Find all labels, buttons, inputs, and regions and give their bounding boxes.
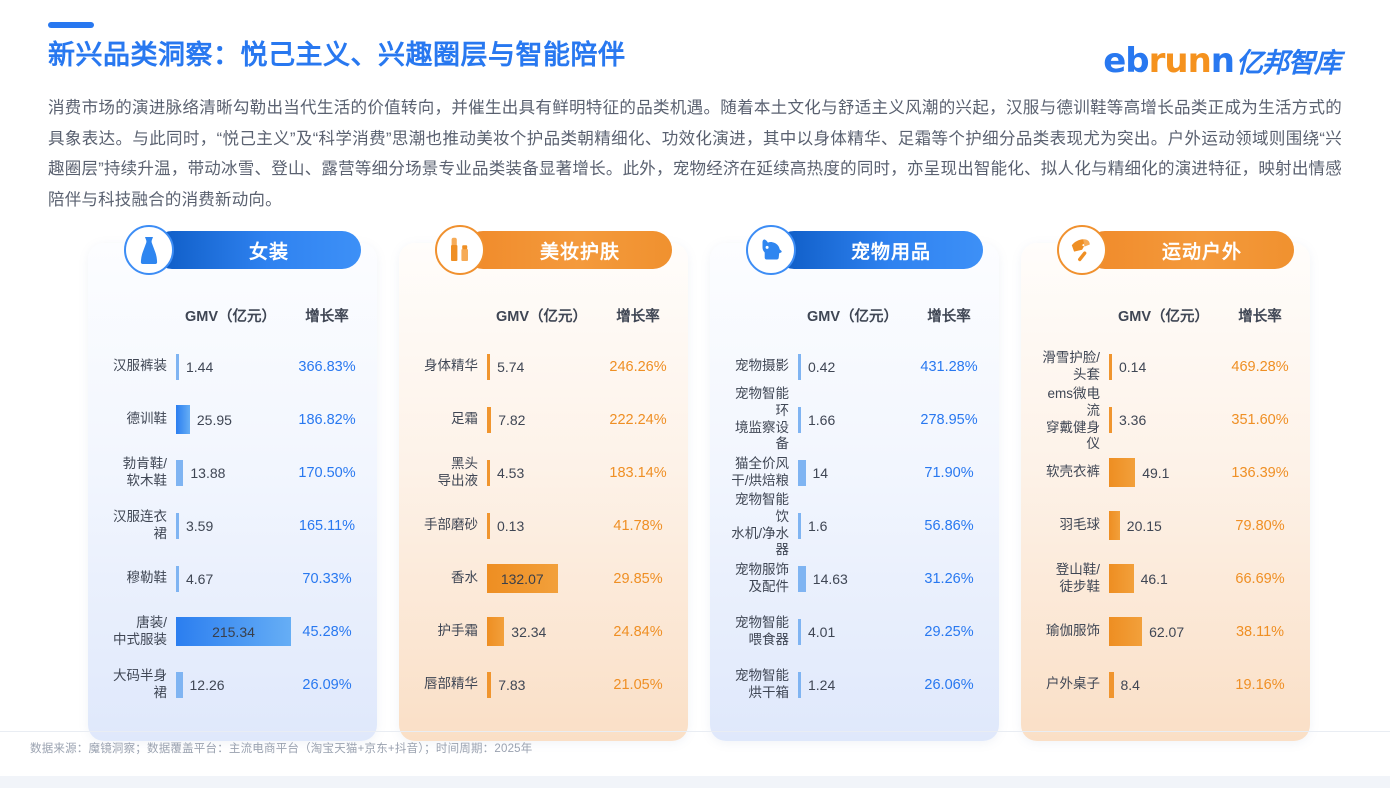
gmv-value: 7.83	[498, 677, 525, 693]
growth-rate: 41.78%	[602, 518, 674, 534]
card-title-pill: 运动户外	[1086, 231, 1294, 269]
growth-rate: 29.25%	[913, 624, 985, 640]
gmv-bar: 12.26	[176, 672, 183, 698]
category-name: 黑头导出液	[413, 456, 487, 490]
card-title-label: 运动户外	[1162, 237, 1242, 264]
gmv-bar-zone: 4.67	[176, 552, 291, 605]
gmv-bar: 0.13	[487, 513, 490, 539]
gmv-bar: 7.82	[487, 407, 491, 433]
gmv-bar-zone: 0.13	[487, 499, 602, 552]
card-title-pill: 美妆护肤	[464, 231, 672, 269]
category-row: 唐装/中式服装215.3445.28%	[102, 605, 363, 658]
gmv-bar-zone: 7.82	[487, 393, 602, 446]
growth-rate: 21.05%	[602, 677, 674, 693]
gmv-value: 14.63	[813, 571, 848, 587]
growth-rate: 278.95%	[913, 412, 985, 428]
gmv-bar: 1.66	[798, 407, 801, 433]
category-row: 手部磨砂0.1341.78%	[413, 499, 674, 552]
gmv-bar: 4.67	[176, 566, 179, 592]
card-header: 运动户外	[1057, 225, 1294, 275]
category-row: 宠物服饰及配件14.6331.26%	[724, 552, 985, 605]
page-header: 新兴品类洞察：悦己主义、兴趣圈层与智能陪伴 e b run n 亿邦智库	[0, 0, 1390, 81]
category-row: 护手霜32.3424.84%	[413, 605, 674, 658]
gmv-bar-zone: 20.15	[1109, 499, 1224, 552]
column-header-gmv: GMV（亿元）	[487, 305, 602, 326]
logo-letter-e: e	[1103, 41, 1125, 81]
gmv-bar-zone: 14	[798, 446, 913, 499]
card-header: 女装	[124, 225, 361, 275]
category-name: 身体精华	[413, 358, 487, 375]
category-name: 足霜	[413, 411, 487, 428]
gmv-bar: 8.4	[1109, 672, 1114, 698]
gmv-value: 25.95	[197, 412, 232, 428]
title-accent-bar	[48, 22, 94, 28]
category-name: 手部磨砂	[413, 517, 487, 534]
growth-rate: 366.83%	[291, 359, 363, 375]
category-row: 宠物智能饮水机/净水器1.656.86%	[724, 499, 985, 552]
card-header: 美妆护肤	[435, 225, 672, 275]
column-header-growth: 增长率	[602, 305, 674, 326]
category-card: 美妆护肤GMV（亿元）增长率身体精华5.74246.26%足霜7.82222.2…	[399, 243, 688, 741]
category-rows: 宠物摄影0.42431.28%宠物智能环境监察设备1.66278.95%猫全价风…	[724, 340, 985, 711]
growth-rate: 70.33%	[291, 571, 363, 587]
gmv-bar-zone: 49.1	[1109, 446, 1224, 499]
column-header-gmv: GMV（亿元）	[798, 305, 913, 326]
gmv-bar: 7.83	[487, 672, 491, 698]
gmv-value: 5.74	[497, 359, 524, 375]
category-row: 登山鞋/徒步鞋46.166.69%	[1035, 552, 1296, 605]
gmv-bar: 1.44	[176, 354, 179, 380]
card-title-pill: 宠物用品	[775, 231, 983, 269]
column-header-growth: 增长率	[1224, 305, 1296, 326]
category-name: 唐装/中式服装	[102, 615, 176, 649]
gmv-bar-zone: 14.63	[798, 552, 913, 605]
growth-rate: 136.39%	[1224, 465, 1296, 481]
gmv-bar: 49.1	[1109, 458, 1135, 487]
gmv-bar: 0.42	[798, 354, 801, 380]
gmv-value: 0.14	[1119, 359, 1146, 375]
gmv-bar-zone: 5.74	[487, 340, 602, 393]
gmv-value: 0.42	[808, 359, 835, 375]
category-name: 登山鞋/徒步鞋	[1035, 562, 1109, 596]
gmv-value: 4.67	[186, 571, 213, 587]
growth-rate: 431.28%	[913, 359, 985, 375]
growth-rate: 183.14%	[602, 465, 674, 481]
category-name: 汉服裤装	[102, 358, 176, 375]
column-headers: GMV（亿元）增长率	[413, 305, 674, 326]
gmv-value: 49.1	[1142, 465, 1169, 481]
growth-rate: 186.82%	[291, 412, 363, 428]
gmv-value: 8.4	[1121, 677, 1140, 693]
lipstick-icon	[435, 225, 485, 275]
card-title-label: 女装	[249, 237, 289, 264]
gmv-value: 20.15	[1127, 518, 1162, 534]
category-name: 宠物服饰及配件	[724, 562, 798, 596]
column-headers: GMV（亿元）增长率	[1035, 305, 1296, 326]
gmv-bar-zone: 215.34	[176, 605, 291, 658]
growth-rate: 26.09%	[291, 677, 363, 693]
growth-rate: 66.69%	[1224, 571, 1296, 587]
category-row: 宠物智能环境监察设备1.66278.95%	[724, 393, 985, 446]
growth-rate: 29.85%	[602, 571, 674, 587]
column-header-growth: 增长率	[291, 305, 363, 326]
gmv-bar: 13.88	[176, 460, 183, 486]
category-card: 宠物用品GMV（亿元）增长率宠物摄影0.42431.28%宠物智能环境监察设备1…	[710, 243, 999, 741]
category-rows: 汉服裤装1.44366.83%德训鞋25.95186.82%勃肯鞋/软木鞋13.…	[102, 340, 363, 711]
gmv-value: 12.26	[190, 677, 225, 693]
category-name: 瑜伽服饰	[1035, 623, 1109, 640]
category-row: 汉服裤装1.44366.83%	[102, 340, 363, 393]
category-name: 户外桌子	[1035, 676, 1109, 693]
gmv-bar-zone: 132.07	[487, 552, 602, 605]
gmv-value: 62.07	[1149, 624, 1184, 640]
dog-icon	[746, 225, 796, 275]
gmv-bar: 25.95	[176, 405, 190, 434]
gmv-bar-zone: 3.59	[176, 499, 291, 552]
gmv-bar: 5.74	[487, 354, 490, 380]
growth-rate: 165.11%	[291, 518, 363, 534]
gmv-bar-zone: 62.07	[1109, 605, 1224, 658]
gmv-value: 1.6	[808, 518, 827, 534]
category-name: 软壳衣裤	[1035, 464, 1109, 481]
gmv-value: 1.24	[808, 677, 835, 693]
gmv-value: 14	[813, 465, 829, 481]
badminton-icon	[1057, 225, 1107, 275]
gmv-value: 7.82	[498, 412, 525, 428]
gmv-bar: 215.34	[176, 617, 291, 646]
growth-rate: 469.28%	[1224, 359, 1296, 375]
gmv-bar-zone: 4.01	[798, 605, 913, 658]
category-row: 黑头导出液4.53183.14%	[413, 446, 674, 499]
logo-chinese-name: 亿邦智库	[1236, 41, 1340, 80]
gmv-bar-zone: 25.95	[176, 393, 291, 446]
gmv-bar-zone: 0.14	[1109, 340, 1224, 393]
gmv-bar-zone: 1.66	[798, 393, 913, 446]
category-row: 羽毛球20.1579.80%	[1035, 499, 1296, 552]
gmv-value: 13.88	[190, 465, 225, 481]
category-name: 宠物智能喂食器	[724, 615, 798, 649]
ebrun-logo: e b run n 亿邦智库	[1103, 41, 1350, 81]
gmv-value: 215.34	[212, 624, 255, 640]
gmv-bar-zone: 46.1	[1109, 552, 1224, 605]
category-name: 香水	[413, 570, 487, 587]
growth-rate: 351.60%	[1224, 412, 1296, 428]
gmv-bar-zone: 1.24	[798, 658, 913, 711]
category-rows: 滑雪护脸/头套0.14469.28%ems微电流穿戴健身仪3.36351.60%…	[1035, 340, 1296, 711]
gmv-bar: 0.14	[1109, 354, 1112, 380]
growth-rate: 31.26%	[913, 571, 985, 587]
gmv-bar: 32.34	[487, 617, 504, 646]
gmv-bar-zone: 7.83	[487, 658, 602, 711]
gmv-bar-zone: 8.4	[1109, 658, 1224, 711]
category-row: ems微电流穿戴健身仪3.36351.60%	[1035, 393, 1296, 446]
category-row: 德训鞋25.95186.82%	[102, 393, 363, 446]
category-name: 汉服连衣裙	[102, 509, 176, 543]
column-header-gmv: GMV（亿元）	[176, 305, 291, 326]
category-row: 软壳衣裤49.1136.39%	[1035, 446, 1296, 499]
growth-rate: 26.06%	[913, 677, 985, 693]
gmv-bar: 20.15	[1109, 511, 1120, 540]
category-card: 运动户外GMV（亿元）增长率滑雪护脸/头套0.14469.28%ems微电流穿戴…	[1021, 243, 1310, 741]
gmv-bar: 3.36	[1109, 407, 1112, 433]
gmv-value: 132.07	[501, 571, 544, 587]
category-row: 身体精华5.74246.26%	[413, 340, 674, 393]
growth-rate: 19.16%	[1224, 677, 1296, 693]
growth-rate: 24.84%	[602, 624, 674, 640]
gmv-bar: 4.01	[798, 619, 801, 645]
category-name: 护手霜	[413, 623, 487, 640]
column-headers: GMV（亿元）增长率	[102, 305, 363, 326]
gmv-bar-zone: 1.44	[176, 340, 291, 393]
report-page: 新兴品类洞察：悦己主义、兴趣圈层与智能陪伴 e b run n 亿邦智库 消费市…	[0, 0, 1390, 788]
intro-paragraph: 消费市场的演进脉络清晰勾勒出当代生活的价值转向，并催生出具有鲜明特征的品类机遇。…	[48, 93, 1342, 215]
gmv-bar-zone: 0.42	[798, 340, 913, 393]
data-source-footnote: 数据来源：魔镜洞察；数据覆盖平台：主流电商平台（淘宝天猫+京东+抖音）；时间周期…	[30, 740, 532, 756]
category-name: 猫全价风干/烘焙粮	[724, 456, 798, 490]
gmv-value: 3.36	[1119, 412, 1146, 428]
card-title-pill: 女装	[153, 231, 361, 269]
gmv-bar: 14.63	[798, 566, 806, 592]
category-card: 女装GMV（亿元）增长率汉服裤装1.44366.83%德训鞋25.95186.8…	[88, 243, 377, 741]
logo-letter-b: b	[1125, 41, 1148, 81]
gmv-bar-zone: 12.26	[176, 658, 291, 711]
category-name: 勃肯鞋/软木鞋	[102, 456, 176, 490]
column-header-gmv: GMV（亿元）	[1109, 305, 1224, 326]
gmv-bar: 1.24	[798, 672, 801, 698]
category-row: 唇部精华7.8321.05%	[413, 658, 674, 711]
category-row: 户外桌子8.419.16%	[1035, 658, 1296, 711]
logo-letters-run: run	[1149, 41, 1211, 81]
gmv-bar: 4.53	[487, 460, 490, 486]
gmv-bar-zone: 1.6	[798, 499, 913, 552]
card-title-label: 美妆护肤	[540, 237, 620, 264]
footer-divider	[0, 731, 1390, 732]
category-row: 穆勒鞋4.6770.33%	[102, 552, 363, 605]
category-row: 汉服连衣裙3.59165.11%	[102, 499, 363, 552]
card-header: 宠物用品	[746, 225, 983, 275]
category-name: 羽毛球	[1035, 517, 1109, 534]
gmv-value: 3.59	[186, 518, 213, 534]
growth-rate: 79.80%	[1224, 518, 1296, 534]
category-name: 滑雪护脸/头套	[1035, 350, 1109, 384]
category-name: 穆勒鞋	[102, 570, 176, 587]
gmv-bar-zone: 3.36	[1109, 393, 1224, 446]
category-cards-container: 女装GMV（亿元）增长率汉服裤装1.44366.83%德训鞋25.95186.8…	[88, 243, 1312, 741]
category-row: 宠物智能烘干箱1.2426.06%	[724, 658, 985, 711]
growth-rate: 71.90%	[913, 465, 985, 481]
category-row: 足霜7.82222.24%	[413, 393, 674, 446]
growth-rate: 246.26%	[602, 359, 674, 375]
gmv-bar: 46.1	[1109, 564, 1134, 593]
category-row: 大码半身裙12.2626.09%	[102, 658, 363, 711]
gmv-bar: 1.6	[798, 513, 801, 539]
growth-rate: 170.50%	[291, 465, 363, 481]
gmv-value: 1.44	[186, 359, 213, 375]
gmv-bar: 3.59	[176, 513, 179, 539]
gmv-bar: 132.07	[487, 564, 558, 593]
gmv-bar: 62.07	[1109, 617, 1142, 646]
category-name: 宠物智能饮水机/净水器	[724, 492, 798, 560]
column-headers: GMV（亿元）增长率	[724, 305, 985, 326]
category-row: 勃肯鞋/软木鞋13.88170.50%	[102, 446, 363, 499]
category-name: 大码半身裙	[102, 668, 176, 702]
category-name: 宠物摄影	[724, 358, 798, 375]
page-title: 新兴品类洞察：悦己主义、兴趣圈层与智能陪伴	[48, 39, 626, 73]
growth-rate: 56.86%	[913, 518, 985, 534]
gmv-value: 46.1	[1141, 571, 1168, 587]
category-name: 宠物智能环境监察设备	[724, 386, 798, 454]
growth-rate: 45.28%	[291, 624, 363, 640]
category-row: 宠物智能喂食器4.0129.25%	[724, 605, 985, 658]
gmv-bar: 14	[798, 460, 806, 486]
category-name: 唇部精华	[413, 676, 487, 693]
card-title-label: 宠物用品	[851, 237, 931, 264]
category-name: ems微电流穿戴健身仪	[1035, 386, 1109, 454]
gmv-bar-zone: 13.88	[176, 446, 291, 499]
dress-icon	[124, 225, 174, 275]
column-header-growth: 增长率	[913, 305, 985, 326]
gmv-bar-zone: 4.53	[487, 446, 602, 499]
gmv-value: 4.53	[497, 465, 524, 481]
gmv-value: 0.13	[497, 518, 524, 534]
category-row: 香水132.0729.85%	[413, 552, 674, 605]
logo-letter-n: n	[1211, 41, 1234, 81]
category-row: 瑜伽服饰62.0738.11%	[1035, 605, 1296, 658]
gmv-value: 32.34	[511, 624, 546, 640]
gmv-value: 1.66	[808, 412, 835, 428]
growth-rate: 38.11%	[1224, 624, 1296, 640]
category-name: 德训鞋	[102, 411, 176, 428]
bottom-strip	[0, 776, 1390, 788]
category-name: 宠物智能烘干箱	[724, 668, 798, 702]
growth-rate: 222.24%	[602, 412, 674, 428]
gmv-value: 4.01	[808, 624, 835, 640]
gmv-bar-zone: 32.34	[487, 605, 602, 658]
category-rows: 身体精华5.74246.26%足霜7.82222.24%黑头导出液4.53183…	[413, 340, 674, 711]
